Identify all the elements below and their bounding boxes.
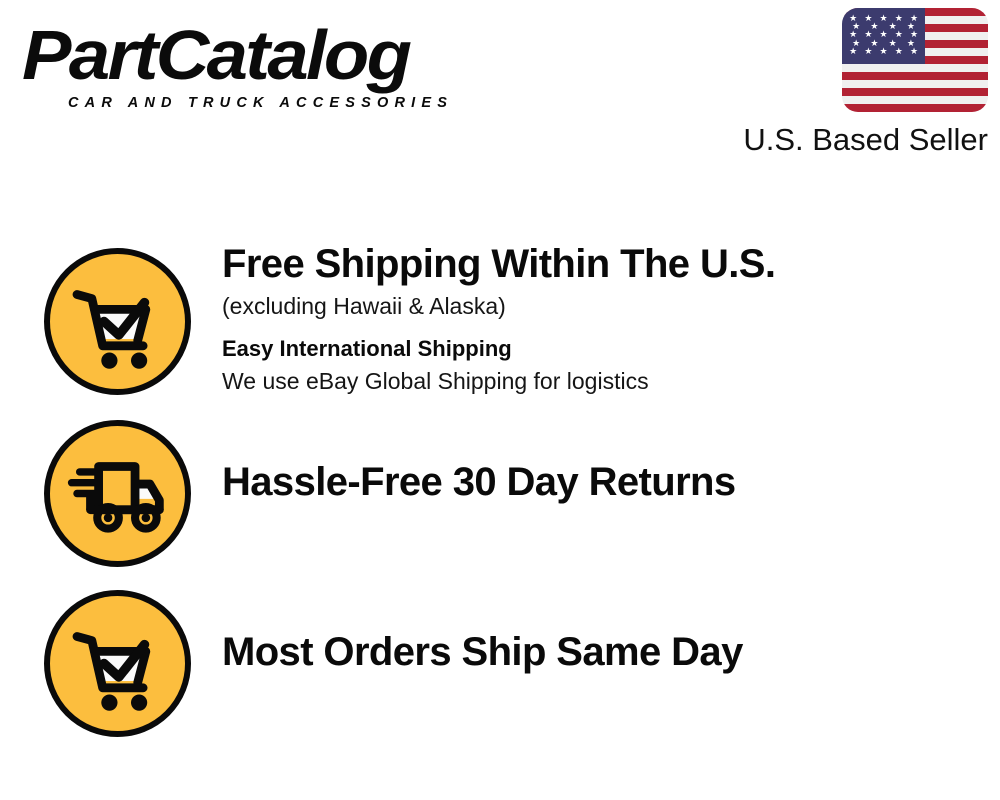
brand-wordmark: PartCatalog: [22, 18, 520, 92]
delivery-truck-icon: [44, 420, 191, 567]
feature-subtitle: (excluding Hawaii & Alaska): [222, 290, 992, 323]
feature-text-block: Free Shipping Within The U.S. (excluding…: [222, 240, 992, 398]
feature-sub-detail: We use eBay Global Shipping for logistic…: [222, 365, 992, 398]
shipping-info-banner: PartCatalog CAR AND TRUCK ACCESSORIES ★★…: [0, 0, 1000, 800]
us-flag-icon: ★★★★★ ★★★★ ★★★★★ ★★★★ ★★★★★: [842, 8, 988, 112]
feature-text-block: Most Orders Ship Same Day: [222, 628, 992, 676]
feature-list: Free Shipping Within The U.S. (excluding…: [0, 240, 1000, 754]
feature-row: Free Shipping Within The U.S. (excluding…: [0, 240, 1000, 412]
flag-canton: ★★★★★ ★★★★ ★★★★★ ★★★★ ★★★★★: [842, 8, 925, 64]
feature-title: Hassle-Free 30 Day Returns: [222, 458, 992, 506]
feature-title: Most Orders Ship Same Day: [222, 628, 992, 676]
feature-title: Free Shipping Within The U.S.: [222, 240, 992, 288]
shopping-cart-check-icon: [44, 248, 191, 395]
feature-row: Most Orders Ship Same Day: [0, 582, 1000, 754]
feature-row: Hassle-Free 30 Day Returns: [0, 412, 1000, 582]
shopping-cart-check-icon: [44, 590, 191, 737]
seller-label: U.S. Based Seller: [713, 122, 988, 158]
feature-sub-heading: Easy International Shipping: [222, 333, 992, 365]
brand-tagline: CAR AND TRUCK ACCESSORIES: [68, 95, 492, 111]
brand-logo: PartCatalog CAR AND TRUCK ACCESSORIES: [22, 18, 492, 118]
feature-text-block: Hassle-Free 30 Day Returns: [222, 458, 992, 506]
us-based-seller-badge: ★★★★★ ★★★★ ★★★★★ ★★★★ ★★★★★ U.S. Based S…: [713, 8, 988, 158]
